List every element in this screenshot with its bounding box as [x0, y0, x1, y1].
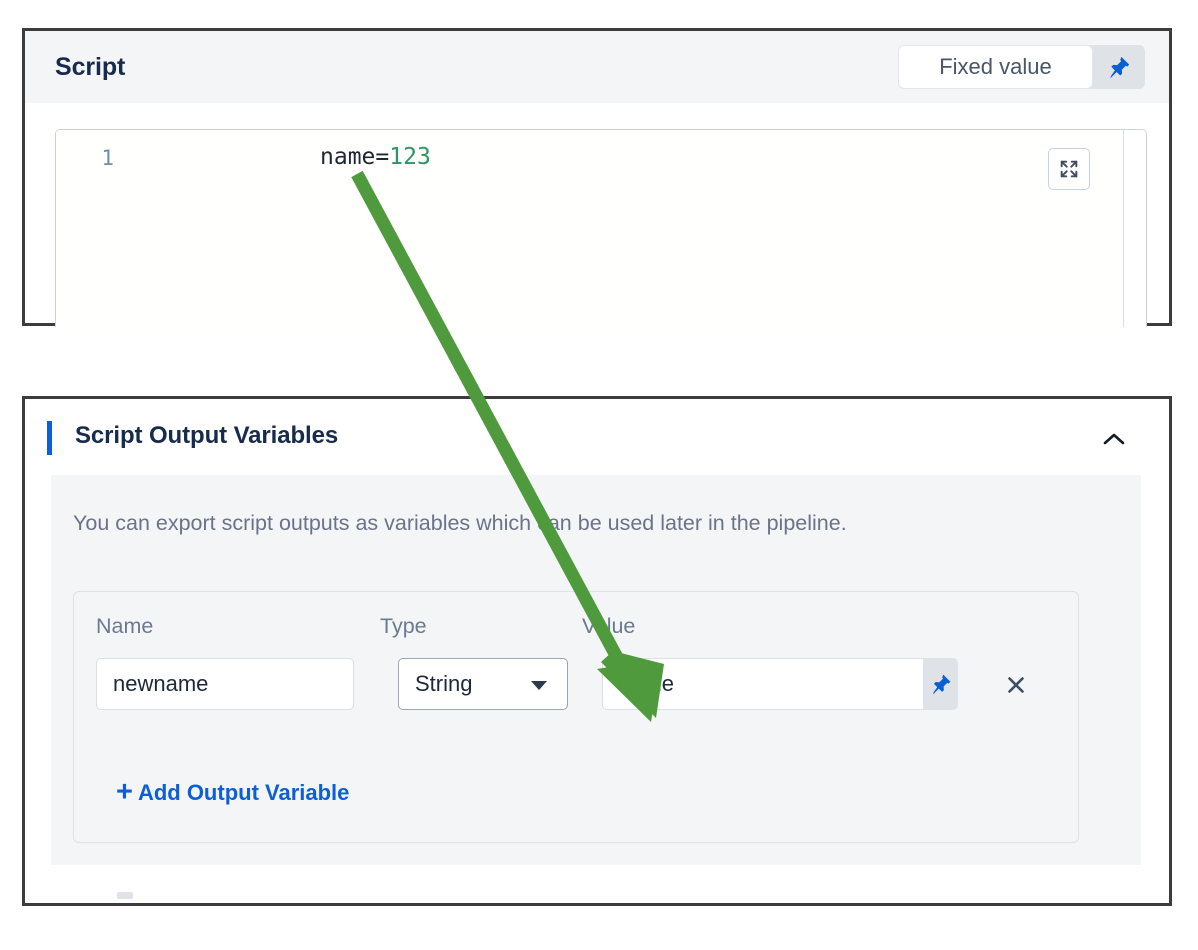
- plus-icon: +: [116, 778, 133, 807]
- clipped-element-fragment: [117, 892, 133, 899]
- variable-type-value: String: [415, 671, 472, 697]
- script-output-variables-panel: Script Output Variables You can export s…: [22, 396, 1172, 906]
- script-output-variables-header: Script Output Variables: [25, 399, 1169, 475]
- chevron-up-icon[interactable]: [1097, 423, 1131, 455]
- code-identifier: name=: [320, 144, 389, 170]
- pin-icon[interactable]: [1093, 45, 1145, 89]
- script-editor[interactable]: 1 name=123: [55, 129, 1147, 327]
- column-header-name: Name: [96, 614, 153, 639]
- pin-icon[interactable]: [923, 658, 958, 710]
- output-variables-card: Name Type Value String: [73, 591, 1079, 843]
- chevron-down-icon: [531, 681, 547, 690]
- script-panel: Script Fixed value 1 name=123: [22, 28, 1172, 326]
- add-output-variable-button[interactable]: + Add Output Variable: [116, 778, 349, 807]
- section-description: You can export script outputs as variabl…: [73, 511, 847, 536]
- script-panel-title: Script: [55, 53, 125, 82]
- code-number-literal: 123: [389, 144, 431, 170]
- close-x-icon[interactable]: [996, 666, 1036, 704]
- line-number: 1: [101, 146, 114, 170]
- editor-gutter: 1: [56, 130, 128, 327]
- script-panel-header: Script Fixed value: [25, 31, 1169, 103]
- fixed-value-button[interactable]: Fixed value: [898, 45, 1093, 89]
- fixed-value-control-group: Fixed value: [898, 45, 1145, 89]
- variable-value-group: [602, 658, 958, 710]
- section-accent-bar: [47, 421, 52, 455]
- column-header-value: Value: [582, 614, 635, 639]
- variable-value-input[interactable]: [602, 658, 923, 710]
- editor-scrollbar[interactable]: [1123, 130, 1146, 327]
- expand-fullscreen-icon[interactable]: [1048, 148, 1090, 190]
- section-title: Script Output Variables: [75, 422, 338, 450]
- add-output-variable-label: Add Output Variable: [138, 780, 349, 806]
- variable-type-select[interactable]: String: [398, 658, 568, 710]
- variable-name-input[interactable]: [96, 658, 354, 710]
- column-header-type: Type: [380, 614, 427, 639]
- code-line-1: name=123: [320, 144, 431, 170]
- output-variable-row: String: [96, 658, 1062, 710]
- script-output-variables-body: You can export script outputs as variabl…: [51, 475, 1141, 865]
